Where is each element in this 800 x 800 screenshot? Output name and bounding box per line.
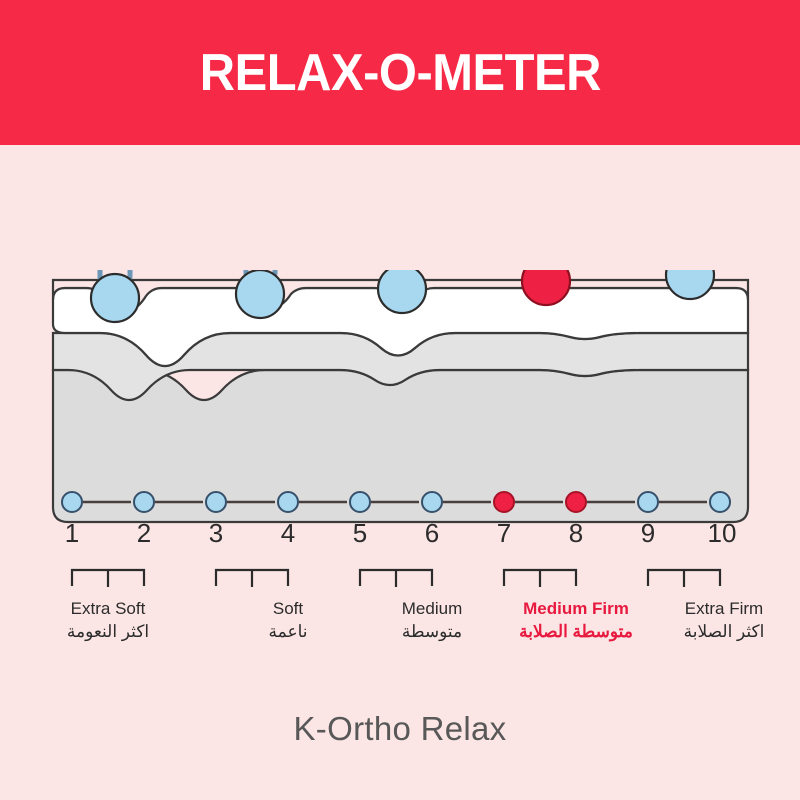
- scale-dot-6[interactable]: 6: [422, 492, 442, 548]
- scale-dot-5[interactable]: 5: [350, 492, 370, 548]
- group-bracket-extra-firm: [648, 570, 720, 587]
- header-banner: RELAX-O-METER: [0, 0, 800, 145]
- scale-dot-label: 1: [65, 518, 79, 548]
- scale-dot-label: 4: [281, 518, 295, 548]
- scale-dot-label: 2: [137, 518, 151, 548]
- scale-dot-9[interactable]: 9: [638, 492, 658, 548]
- group-label-extra-soft[interactable]: Extra Soft اكثر النعومة: [0, 598, 216, 644]
- kettlebell-body-icon: [236, 270, 284, 318]
- group-label-ar: اكثر الصلابة: [648, 620, 800, 644]
- illustration-stage: 1 2 3 4 5: [0, 145, 800, 800]
- scale-dot-4[interactable]: 4: [278, 492, 298, 548]
- group-label-medium-firm[interactable]: Medium Firm متوسطة الصلابة: [504, 598, 648, 644]
- group-label-en: Extra Firm: [648, 598, 800, 620]
- scale-dot-1[interactable]: 1: [62, 492, 82, 548]
- scale-dot-label: 6: [425, 518, 439, 548]
- group-label-extra-firm[interactable]: Extra Firm اكثر الصلابة: [648, 598, 800, 644]
- scale-dot-label: 5: [353, 518, 367, 548]
- kettlebell-body-icon: [378, 270, 426, 313]
- group-label-en: Medium: [360, 598, 504, 620]
- product-name: K-Ortho Relax: [0, 710, 800, 748]
- scale-dot-label: 9: [641, 518, 655, 548]
- group-label-en: Soft: [216, 598, 360, 620]
- group-label-row: Extra Soft اكثر النعومة Soft ناعمة Mediu…: [0, 598, 800, 644]
- kettlebell-body-icon: [91, 274, 139, 322]
- scale-dot-10[interactable]: 10: [708, 492, 737, 548]
- group-label-medium[interactable]: Medium متوسطة: [360, 598, 504, 644]
- scale-dot-8[interactable]: 8: [566, 492, 586, 548]
- scale-dot-label: 10: [708, 518, 737, 548]
- kettlebell-icon: [91, 270, 139, 322]
- group-label-ar: ناعمة: [216, 620, 360, 644]
- group-bracket-medium-firm: [504, 570, 576, 587]
- page-title: RELAX-O-METER: [199, 47, 600, 99]
- group-label-ar: اكثر النعومة: [0, 620, 216, 644]
- scale-dot-3[interactable]: 3: [206, 492, 226, 548]
- firmness-groups: Extra Soft اكثر النعومة Soft ناعمة Mediu…: [0, 560, 800, 690]
- group-bracket-medium: [360, 570, 432, 587]
- scale-dot-label: 3: [209, 518, 223, 548]
- scale-dot-label: 8: [569, 518, 583, 548]
- scale-dot-7[interactable]: 7: [494, 492, 514, 548]
- scale-dot-label: 7: [497, 518, 511, 548]
- kettlebell-icon: [236, 270, 284, 318]
- group-bracket-soft: [216, 570, 288, 587]
- group-bracket-extra-soft: [72, 570, 144, 587]
- group-label-soft[interactable]: Soft ناعمة: [216, 598, 360, 644]
- group-brackets-svg: [0, 560, 800, 600]
- group-label-ar: متوسطة الصلابة: [504, 620, 648, 644]
- kettlebell-icon: [378, 270, 426, 313]
- group-label-en: Medium Firm: [504, 598, 648, 620]
- scale-dot-2[interactable]: 2: [134, 492, 154, 548]
- group-label-en: Extra Soft: [0, 598, 216, 620]
- group-label-ar: متوسطة: [360, 620, 504, 644]
